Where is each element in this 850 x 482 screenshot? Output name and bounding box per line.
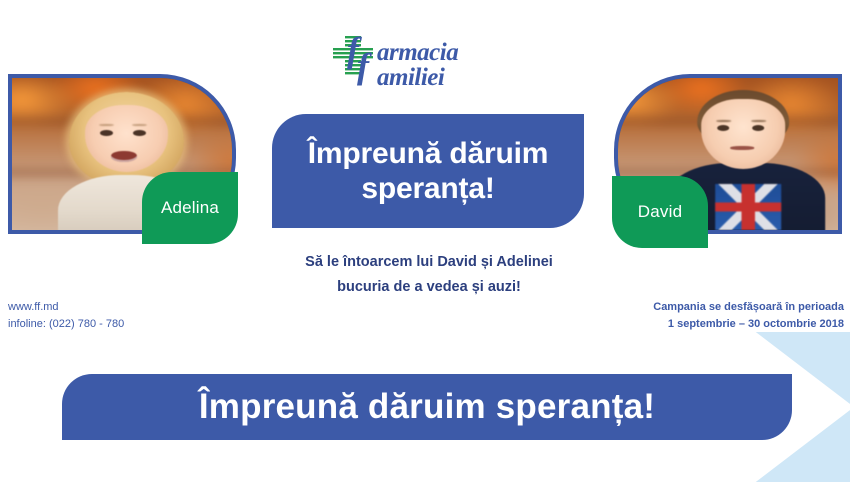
campaign-period-line-1: Campania se desfășoară în perioada xyxy=(653,299,844,316)
eyebrow xyxy=(99,124,114,126)
name-badge-label: David xyxy=(638,202,682,222)
farmacia-familiei-logo[interactable]: f f armacia amiliei xyxy=(331,32,521,94)
slogan-line-1: Împreună dăruim xyxy=(308,137,548,170)
name-badge-adelina: Adelina xyxy=(142,172,238,244)
contact-block: www.ff.md infoline: (022) 780 - 780 xyxy=(8,299,124,333)
union-jack-print-icon xyxy=(715,184,781,230)
mouth xyxy=(111,151,137,162)
eye xyxy=(133,130,146,136)
campaign-period-line-2: 1 septembrie – 30 octombrie 2018 xyxy=(653,316,844,333)
infoline-text: infoline: (022) 780 - 780 xyxy=(8,316,124,333)
poster-canvas: f f armacia amiliei Ad xyxy=(0,0,850,480)
sub-message-line-2: bucuria de a vedea și auzi! xyxy=(255,275,603,300)
name-badge-label: Adelina xyxy=(161,198,219,218)
bottom-banner: Împreună dăruim speranța! xyxy=(62,374,792,440)
sub-message-line-1: Să le întoarcem lui David și Adelinei xyxy=(255,250,603,275)
svg-text:amiliei: amiliei xyxy=(377,64,445,91)
svg-text:armacia: armacia xyxy=(377,39,458,66)
name-badge-david: David xyxy=(612,176,708,248)
eyebrow xyxy=(132,124,147,126)
sub-message: Să le întoarcem lui David și Adelinei bu… xyxy=(255,250,603,301)
slogan-text: Împreună dăruim speranța! xyxy=(308,136,548,207)
slogan-line-2: speranța! xyxy=(361,172,494,205)
eyebrow xyxy=(716,120,731,122)
face xyxy=(702,99,786,169)
slogan-box: Împreună dăruim speranța! xyxy=(272,114,584,228)
eyebrow xyxy=(751,120,766,122)
website-link[interactable]: www.ff.md xyxy=(8,299,124,316)
bottom-banner-text: Împreună dăruim speranța! xyxy=(199,387,655,427)
eye xyxy=(100,130,113,136)
campaign-period-block: Campania se desfășoară în perioada 1 sep… xyxy=(653,299,844,333)
